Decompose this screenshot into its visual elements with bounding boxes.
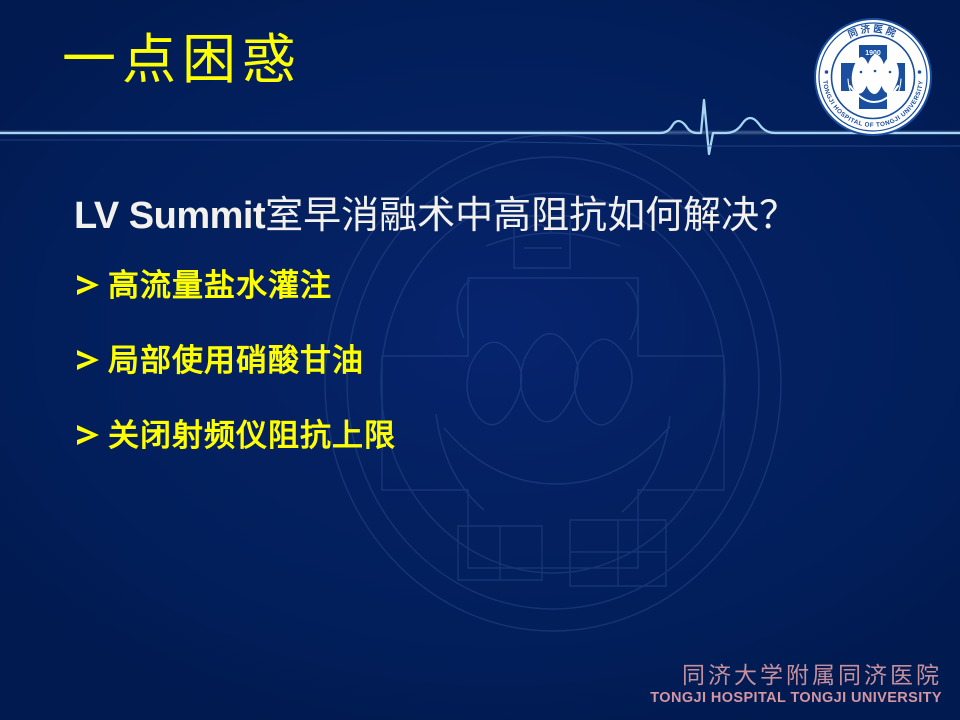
footer-branding: 同济大学附属同济医院 TONGJI HOSPITAL TONGJI UNIVER… bbox=[650, 663, 942, 706]
bullet-list: 高流量盐水灌注 局部使用硝酸甘油 关闭射频仪阻抗上限 bbox=[74, 270, 910, 451]
footer-en: TONGJI HOSPITAL TONGJI UNIVERSITY bbox=[650, 690, 942, 706]
list-item-label: 关闭射频仪阻抗上限 bbox=[108, 420, 396, 451]
list-item-label: 高流量盐水灌注 bbox=[108, 270, 332, 301]
headline-cn: 室早消融术中高阻抗如何解决？ bbox=[265, 195, 797, 237]
presentation-slide: 一点困惑 同济医院 TONGJI HOS bbox=[0, 0, 960, 720]
list-item-label: 局部使用硝酸甘油 bbox=[108, 345, 364, 376]
list-item: 高流量盐水灌注 bbox=[74, 270, 910, 301]
page-title: 一点困惑 bbox=[62, 30, 302, 90]
arrow-bullet-icon bbox=[74, 270, 102, 300]
list-item: 局部使用硝酸甘油 bbox=[74, 345, 910, 376]
footer-cn: 同济大学附属同济医院 bbox=[650, 663, 942, 689]
tongji-hospital-logo: 同济医院 TONGJI HOSPITAL OF TONGJI UNIVERSIT… bbox=[806, 10, 940, 144]
list-item: 关闭射频仪阻抗上限 bbox=[74, 420, 910, 451]
arrow-bullet-icon bbox=[74, 345, 102, 375]
slide-content: LV Summit室早消融术中高阻抗如何解决？ 高流量盐水灌注 局部使用硝酸甘油 bbox=[74, 186, 910, 495]
headline-en: LV Summit bbox=[74, 195, 265, 237]
headline: LV Summit室早消融术中高阻抗如何解决？ bbox=[74, 186, 910, 248]
arrow-bullet-icon bbox=[74, 420, 102, 450]
